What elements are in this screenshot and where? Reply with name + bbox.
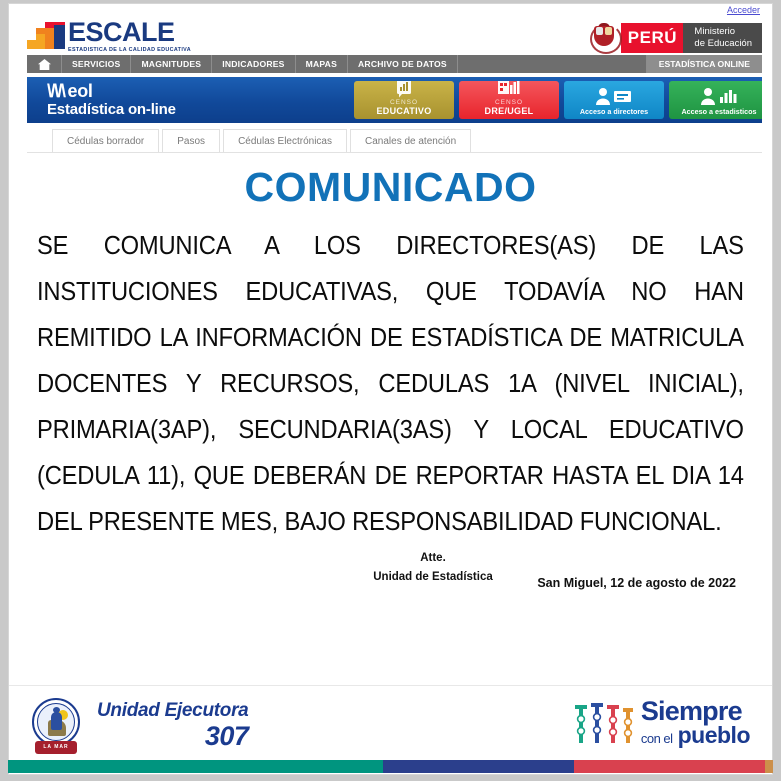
document-chart-icon [393,81,415,98]
siempre-pueblo: pueblo [678,722,750,748]
peru-label: PERÚ [621,23,683,53]
comunicado-body: SE COMUNICA A LOS DIRECTORES(AS) DE LAS … [37,223,744,545]
comunicado-section: COMUNICADO SE COMUNICA A LOS DIRECTORES(… [9,165,772,607]
building-chart-icon [496,81,522,98]
footer-colorbar [8,760,773,773]
eol-banner: \/\/\eol Estadística on-line CENSO EDUCA… [27,77,762,123]
signature-atte: Atte. Unidad de Estadística [353,549,513,587]
eol-subtitle: Estadística on-line [47,101,176,118]
colorbar-segment-teal [8,760,383,773]
gobierno-logo: PERÚ Ministerio de Educación [587,23,762,53]
escale-logo[interactable]: ESCALE ESTADISTICA DE LA CALIDAD EDUCATI… [27,19,191,54]
tile-estadisticos-caption: Acceso a estadisticos [681,108,756,119]
unidad-ejecutora-text: Unidad Ejecutora 307 [97,700,248,750]
signature-block: Atte. Unidad de Estadística San Miguel, … [37,547,744,607]
tab-cedulas-borrador[interactable]: Cédulas borrador [52,129,159,152]
tile-dre-small: CENSO [495,99,523,106]
siempre-con-el-pueblo-block: Siempre con el pueblo [567,698,750,749]
unidad-ejecutora-number: 307 [97,722,248,750]
tile-acceso-directores[interactable]: Acceso a directores [564,81,664,119]
eol-brand[interactable]: \/\/\eol Estadística on-line [47,82,176,118]
siempre-word: Siempre [641,698,750,725]
seal-band-text: LA MAR [35,741,77,754]
tile-censo-dre-ugel[interactable]: CENSO DRE/UGEL [459,81,559,119]
colorbar-segment-tan [765,760,773,773]
main-nav: SERVICIOS MAGNITUDES INDICADORES MAPAS A… [27,55,762,73]
colorbar-segment-red [574,760,765,773]
eol-brand-name: eol [68,81,93,101]
place-date: San Miguel, 12 de agosto de 2022 [537,576,736,590]
tile-directores-caption: Acceso a directores [580,108,648,119]
nav-item-archivo-de-datos[interactable]: ARCHIVO DE DATOS [348,55,458,73]
tile-censo-educativo[interactable]: CENSO EDUCATIVO [354,81,454,119]
unidad-ejecutora-block: LA MAR Unidad Ejecutora 307 [29,696,248,754]
peru-coat-of-arms-icon [587,23,621,53]
signature-unit: Unidad de Estadística [353,568,513,587]
escale-stairs-icon [27,20,65,49]
nav-item-magnitudes[interactable]: MAGNITUDES [131,55,212,73]
person-bars-icon [699,88,739,107]
tile-acceso-estadisticos[interactable]: Acceso a estadisticos [669,81,762,119]
page-title: COMUNICADO [37,165,744,209]
eol-wave-icon: \/\/\ [47,81,65,101]
section-tabs: Cédulas borrador Pasos Cédulas Electróni… [27,129,762,153]
nav-item-servicios[interactable]: SERVICIOS [62,55,131,73]
brand-name: ESCALE [68,19,191,46]
ministerio-line1: Ministerio [694,26,752,38]
signature-atte-label: Atte. [353,549,513,568]
siempre-con-el: con el [641,731,673,746]
tabs-filler [474,129,762,152]
tile-dre-big: DRE/UGEL [485,106,534,119]
acceder-link[interactable]: Acceder [727,5,760,15]
nav-item-mapas[interactable]: MAPAS [296,55,348,73]
nav-item-indicadores[interactable]: INDICADORES [212,55,295,73]
brand-tagline: ESTADISTICA DE LA CALIDAD EDUCATIVA [68,47,191,54]
ugel-la-mar-seal-icon: LA MAR [29,696,83,754]
person-board-icon [594,88,634,107]
tab-canales-de-atencion[interactable]: Canales de atención [350,129,471,152]
nav-spacer [458,55,647,73]
tab-cedulas-electronicas[interactable]: Cédulas Electrónicas [223,129,347,152]
tile-censo-big: EDUCATIVO [376,106,431,119]
nav-item-estadistica-online[interactable]: ESTADÍSTICA ONLINE [647,55,762,73]
ministerio-block: Ministerio de Educación [683,23,762,53]
home-icon[interactable] [27,55,62,73]
tab-pasos[interactable]: Pasos [162,129,220,152]
tile-censo-small: CENSO [390,99,418,106]
unidad-ejecutora-label: Unidad Ejecutora [97,700,248,722]
escale-page: Acceder ESCALE ESTADISTICA DE LA CALIDAD… [8,3,773,775]
colorbar-segment-blue [383,760,574,773]
siempre-text: Siempre con el pueblo [641,698,750,749]
siempre-con-el-pueblo-icon [567,699,635,749]
site-header: ESCALE ESTADISTICA DE LA CALIDAD EDUCATI… [9,21,772,55]
ministerio-line2: de Educación [694,38,752,50]
